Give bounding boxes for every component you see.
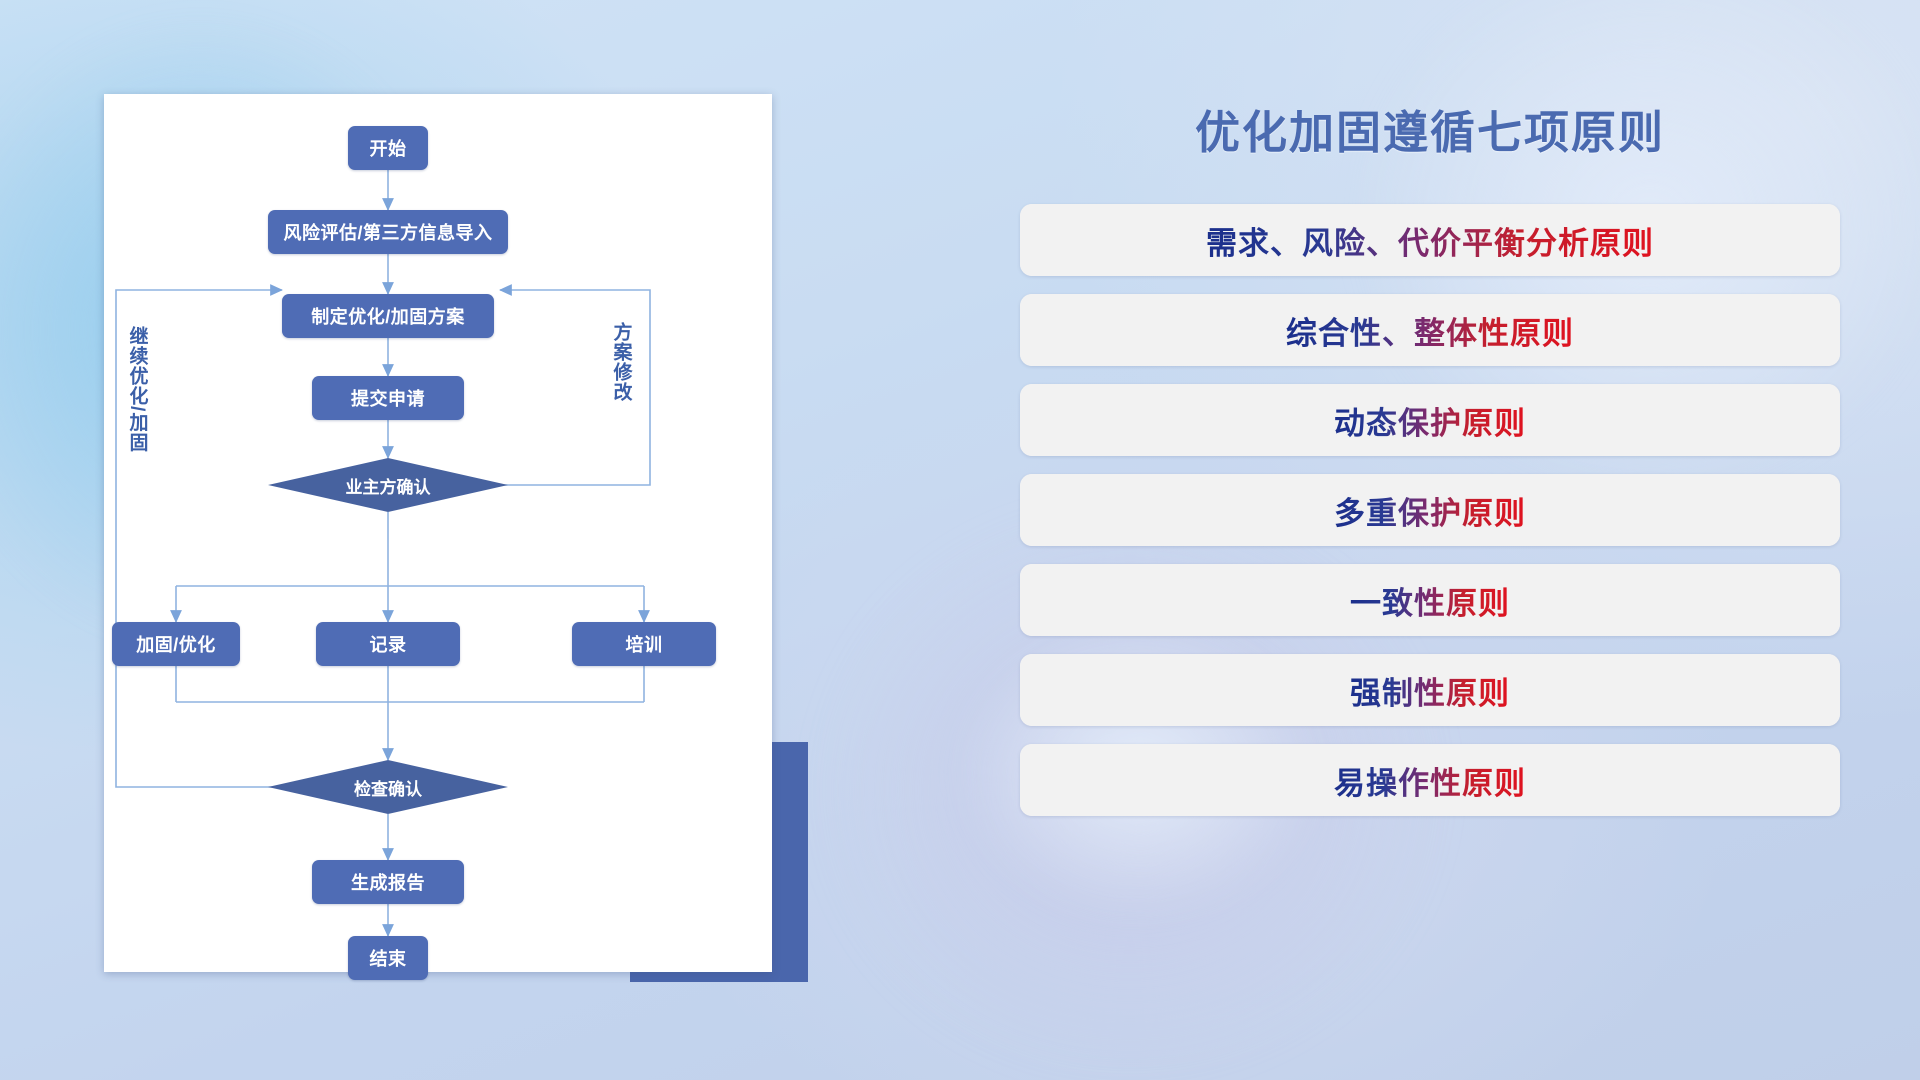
flow-node-risk-assessment[interactable]: 风险评估/第三方信息导入 xyxy=(268,210,508,254)
flow-node-training[interactable]: 培训 xyxy=(572,622,716,666)
principle-item-label: 综合性、整体性原则 xyxy=(1286,308,1574,353)
edge-label-continue-optimize: 继续优化/加固 xyxy=(126,326,147,452)
principle-item-label: 需求、风险、代价平衡分析原则 xyxy=(1206,218,1654,263)
principles-panel: 优化加固遵循七项原则 需求、风险、代价平衡分析原则 综合性、整体性原则 动态保护… xyxy=(1020,96,1840,986)
flow-node-reinforce[interactable]: 加固/优化 xyxy=(112,622,240,666)
principle-item-label: 易操作性原则 xyxy=(1334,758,1526,803)
flow-node-label: 培训 xyxy=(626,631,663,657)
flow-node-owner-confirm[interactable]: 业主方确认 xyxy=(268,458,508,512)
principle-item-label: 一致性原则 xyxy=(1350,578,1510,623)
flow-node-label: 开始 xyxy=(370,135,407,161)
flow-node-label: 加固/优化 xyxy=(136,631,216,657)
flow-node-label: 记录 xyxy=(370,631,407,657)
flow-node-label: 生成报告 xyxy=(351,869,425,895)
flow-node-end[interactable]: 结束 xyxy=(348,936,428,980)
principle-item-label: 动态保护原则 xyxy=(1334,398,1526,443)
principle-item[interactable]: 多重保护原则 xyxy=(1020,474,1840,546)
flow-node-label: 制定优化/加固方案 xyxy=(311,303,465,329)
principle-item-label: 强制性原则 xyxy=(1350,668,1510,713)
flowchart-card: 开始 风险评估/第三方信息导入 制定优化/加固方案 提交申请 业主方确认 加固/… xyxy=(104,94,772,972)
flow-node-generate-report[interactable]: 生成报告 xyxy=(312,860,464,904)
principle-item[interactable]: 动态保护原则 xyxy=(1020,384,1840,456)
principle-item[interactable]: 综合性、整体性原则 xyxy=(1020,294,1840,366)
flow-node-label: 风险评估/第三方信息导入 xyxy=(284,219,493,245)
principle-item-label: 多重保护原则 xyxy=(1334,488,1526,533)
flow-node-check-confirm[interactable]: 检查确认 xyxy=(268,760,508,814)
flow-node-start[interactable]: 开始 xyxy=(348,126,428,170)
principle-item[interactable]: 易操作性原则 xyxy=(1020,744,1840,816)
edge-label-plan-revision: 方案修改 xyxy=(610,322,631,402)
principles-list: 需求、风险、代价平衡分析原则 综合性、整体性原则 动态保护原则 多重保护原则 一… xyxy=(1020,204,1840,816)
principle-item[interactable]: 一致性原则 xyxy=(1020,564,1840,636)
flow-node-plan[interactable]: 制定优化/加固方案 xyxy=(282,294,494,338)
flow-node-record[interactable]: 记录 xyxy=(316,622,460,666)
principle-item[interactable]: 需求、风险、代价平衡分析原则 xyxy=(1020,204,1840,276)
flow-node-submit-application[interactable]: 提交申请 xyxy=(312,376,464,420)
panel-title: 优化加固遵循七项原则 xyxy=(1020,96,1840,161)
slide-canvas: 开始 风险评估/第三方信息导入 制定优化/加固方案 提交申请 业主方确认 加固/… xyxy=(0,0,1920,1080)
flow-node-label: 结束 xyxy=(370,945,407,971)
principle-item[interactable]: 强制性原则 xyxy=(1020,654,1840,726)
flow-node-label: 提交申请 xyxy=(351,385,425,411)
